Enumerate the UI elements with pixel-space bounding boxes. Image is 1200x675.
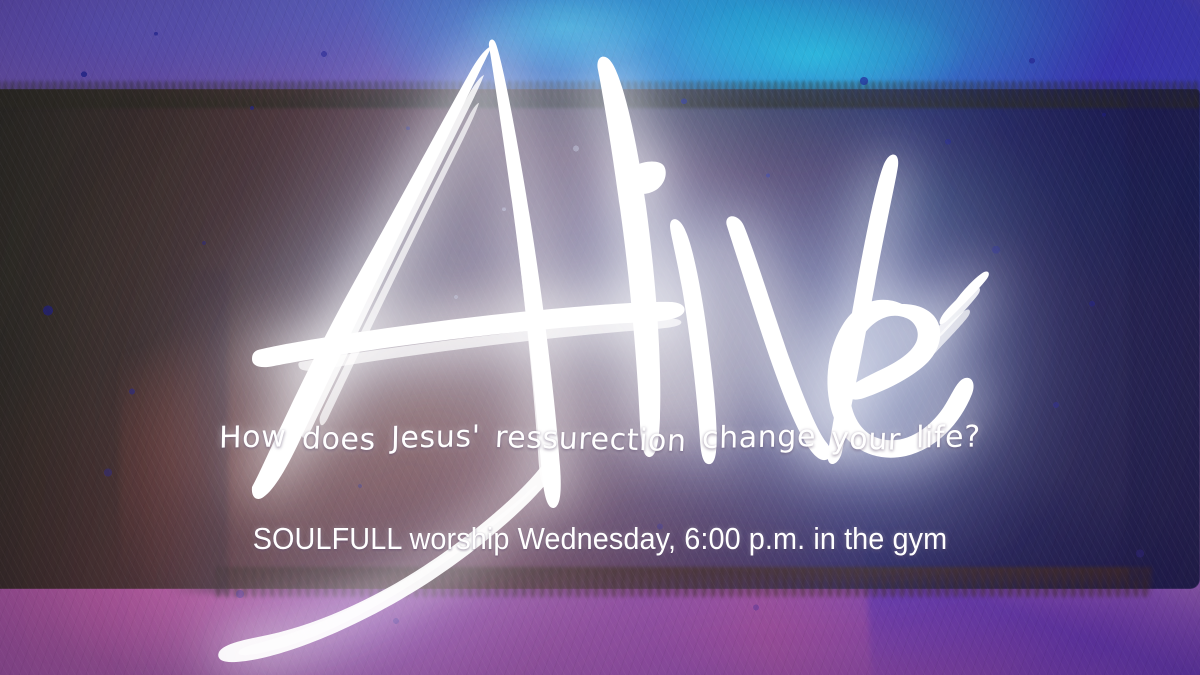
event-details-text: SOULFULL worship Wednesday, 6:00 p.m. in… [42,521,1158,557]
subtitle-word: How [219,419,287,455]
subtitle-word: your [830,421,902,457]
subtitle-word: ressurection [494,420,687,459]
subtitle-word: life? [916,419,981,455]
slide-canvas: Alive [0,0,1200,675]
subtitle-word: does [301,421,377,458]
subtitle-text: How does Jesus' ressurection change your… [0,421,1200,456]
subtitle-word: Jesus' [390,419,480,456]
subtitle-word: change [702,419,817,456]
